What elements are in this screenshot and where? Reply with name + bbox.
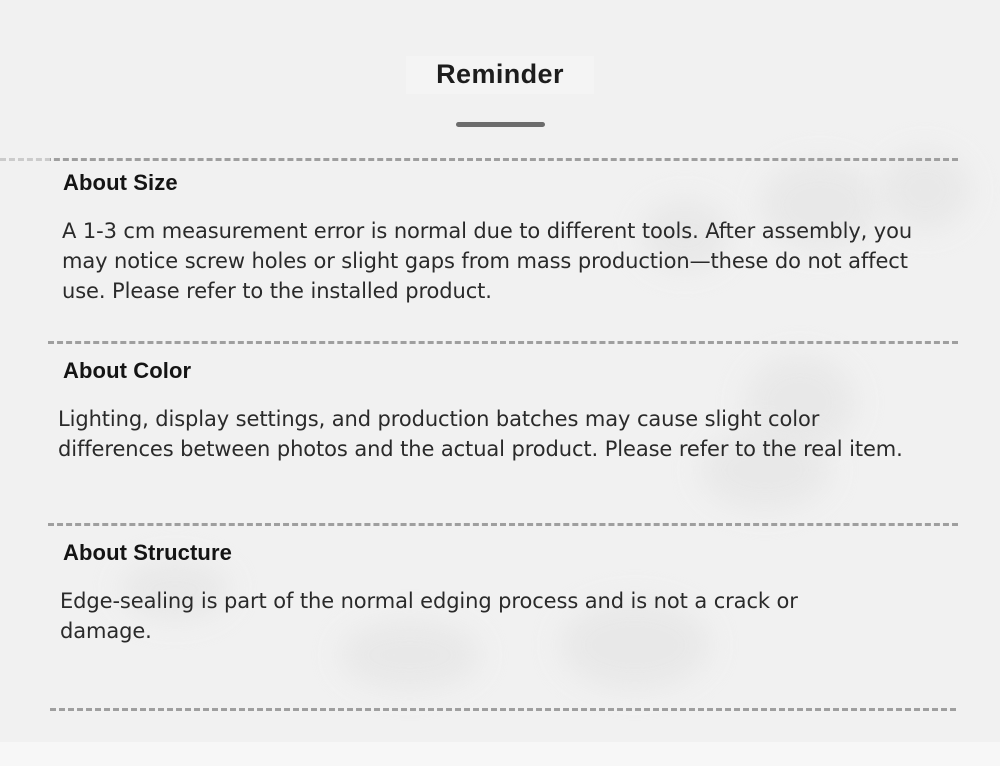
page-bottom-band: [0, 742, 1000, 766]
section-heading: About Size: [0, 170, 1000, 196]
title-underline-rule: [456, 122, 545, 127]
section-divider: [48, 523, 958, 526]
page-title-rule-wrap: [0, 112, 1000, 131]
section-divider: [50, 708, 956, 711]
section-body: Lighting, display settings, and producti…: [0, 404, 1000, 464]
section-heading: About Structure: [0, 540, 1000, 566]
page-title-plate: Reminder: [406, 56, 594, 94]
section-about-structure: About Structure Edge-sealing is part of …: [0, 540, 1000, 646]
page-title: Reminder: [436, 59, 564, 89]
section-body: A 1-3 cm measurement error is normal due…: [0, 216, 1000, 306]
section-divider: [0, 158, 958, 161]
section-heading: About Color: [0, 358, 1000, 384]
reminder-page: Reminder About Size A 1-3 cm measurement…: [0, 0, 1000, 766]
section-about-color: About Color Lighting, display settings, …: [0, 358, 1000, 464]
section-divider: [48, 341, 958, 344]
page-header: Reminder: [0, 56, 1000, 131]
section-body: Edge-sealing is part of the normal edgin…: [0, 586, 1000, 646]
section-about-size: About Size A 1-3 cm measurement error is…: [0, 170, 1000, 306]
